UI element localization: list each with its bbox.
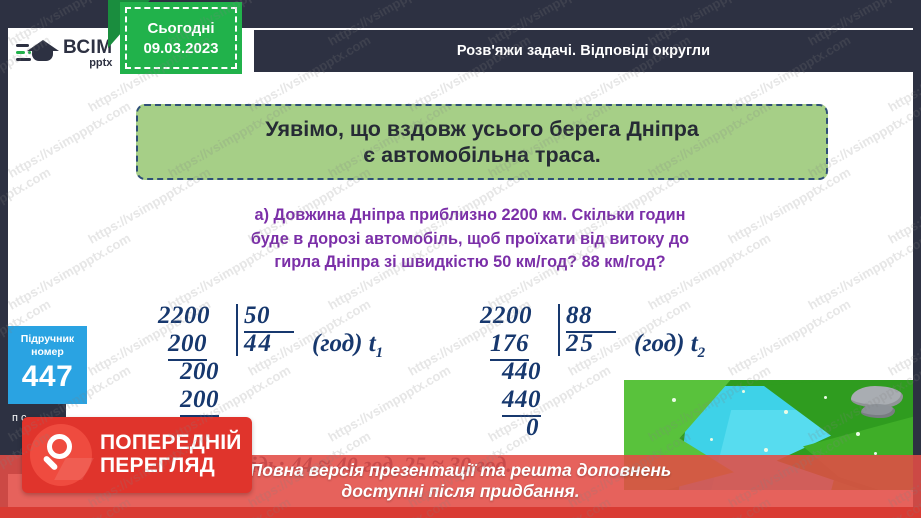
sparkle — [784, 410, 788, 414]
sparkle — [742, 390, 745, 393]
division-step: 440 — [502, 386, 541, 417]
division-bar — [236, 304, 238, 356]
banner-footer-strip — [0, 507, 921, 518]
date-tab-body: Сьогодні 09.03.2023 — [120, 2, 242, 74]
quotient-unit-sub: 2 — [698, 345, 706, 361]
sparkle — [710, 438, 713, 441]
division-step: 200 — [180, 358, 219, 386]
statement-line-2: є автомобільна траса. — [363, 142, 600, 168]
magnifier-icon — [30, 424, 92, 486]
statement-line-1: Уявімо, що вздовж усього берега Дніпра — [265, 116, 699, 142]
dividend: 2200 — [158, 302, 210, 330]
task-line-1: а) Довжина Дніпра приблизно 2200 км. Скі… — [170, 204, 770, 228]
quotient-unit-text: (год) t — [312, 330, 376, 357]
division-step: 176 — [490, 330, 529, 361]
sparkle — [824, 396, 827, 399]
brand-name: ВСІМ — [63, 38, 112, 57]
graduation-cap-icon — [16, 36, 58, 70]
sparkle — [764, 448, 768, 452]
badge-label-1: Підручник — [21, 333, 74, 346]
task-line-3: гирла Дніпра зі швидкістю 50 км/год? 88 … — [170, 251, 770, 275]
division-step: 200 — [180, 386, 219, 417]
preview-label-2: ПЕРЕГЛЯД — [100, 455, 242, 478]
preview-badge[interactable]: ПОПЕРЕДНІЙ ПЕРЕГЛЯД — [22, 417, 252, 493]
quotient-unit-sub: 1 — [376, 345, 384, 361]
task-line-2: буде в дорозі автомобіль, щоб проїхати в… — [170, 228, 770, 252]
division-step: 440 — [502, 358, 541, 386]
brand-suffix: pptx — [63, 58, 112, 69]
division-remainder: 0 — [526, 414, 539, 442]
date-label: Сьогодні — [148, 20, 215, 37]
page-title: Розв'яжи задачі. Відповіді округли — [457, 43, 710, 59]
badge-number: 447 — [22, 362, 74, 392]
preview-badge-text: ПОПЕРЕДНІЙ ПЕРЕГЛЯД — [100, 432, 242, 477]
header-bar: Розв'яжи задачі. Відповіді округли — [254, 30, 913, 72]
sparkle — [856, 432, 860, 436]
quotient: 44 — [244, 330, 273, 358]
quotient-unit-text: (год) t — [634, 330, 698, 357]
rock-icon — [861, 404, 895, 418]
quotient-unit: (год) t2 — [634, 330, 705, 362]
quotient-unit: (год) t1 — [312, 330, 383, 362]
banner-line-1: Повна версія презентації та решта доповн… — [250, 460, 672, 481]
banner-line-2: доступні після придбання. — [341, 481, 579, 502]
brand-logo-text: ВСІМ pptx — [63, 38, 112, 69]
quotient: 25 — [566, 330, 595, 358]
divisor: 88 — [566, 302, 616, 333]
dividend: 2200 — [480, 302, 532, 330]
textbook-number-badge: Підручник номер 447 — [8, 326, 87, 404]
division-step: 200 — [168, 330, 207, 361]
badge-label-2: номер — [31, 346, 64, 359]
division-bar — [558, 304, 560, 356]
task-text: а) Довжина Дніпра приблизно 2200 км. Скі… — [170, 204, 770, 275]
date-value: 09.03.2023 — [143, 40, 218, 57]
statement-box: Уявімо, що вздовж усього берега Дніпра є… — [136, 104, 828, 180]
sparkle — [672, 398, 676, 402]
preview-label-1: ПОПЕРЕДНІЙ — [100, 432, 242, 455]
divisor: 50 — [244, 302, 294, 333]
